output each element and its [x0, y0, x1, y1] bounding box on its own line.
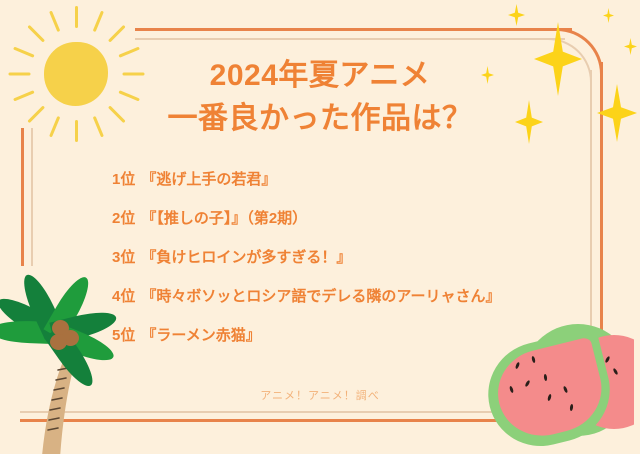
ranking-item-4: 4位 『時々ボソッとロシア語でデレる隣のアーリャさん』	[0, 285, 640, 324]
rank-position: 1位	[112, 168, 135, 189]
rank-title: 『ラーメン赤猫』	[141, 324, 260, 345]
ranking-item-2: 2位 『【推しの子】』（第2期）	[0, 207, 640, 246]
rank-title: 『負けヒロインが多すぎる！』	[141, 246, 351, 267]
poster-canvas: 2024年夏アニメ 一番良かった作品は？ 1位 『逃げ上手の若君』 2位 『【推…	[0, 0, 640, 454]
sun-ray	[49, 11, 60, 32]
rank-position: 2位	[112, 207, 135, 228]
sparkle-icon	[603, 8, 614, 23]
rank-position: 5位	[112, 324, 135, 345]
rank-title: 『【推しの子】』（第2期）	[141, 207, 307, 228]
ranking-item-3: 3位 『負けヒロインが多すぎる！』	[0, 246, 640, 285]
sun-ray	[27, 25, 45, 43]
ranking-item-5: 5位 『ラーメン赤猫』	[0, 324, 640, 363]
source-credit: アニメ！アニメ！調べ	[0, 387, 640, 403]
sun-ray	[75, 6, 78, 28]
sun-ray	[93, 11, 104, 32]
rank-title: 『時々ボソッとロシア語でデレる隣のアーリャさん』	[141, 285, 500, 306]
sparkle-icon	[624, 38, 637, 55]
rank-title: 『逃げ上手の若君』	[141, 168, 276, 189]
rank-position: 4位	[112, 285, 135, 306]
sun-ray	[108, 25, 126, 43]
rank-position: 3位	[112, 246, 135, 267]
ranking-list: 1位 『逃げ上手の若君』 2位 『【推しの子】』（第2期） 3位 『負けヒロイン…	[0, 168, 640, 363]
ranking-item-1: 1位 『逃げ上手の若君』	[0, 168, 640, 207]
frame-top-line-thin	[135, 38, 565, 40]
page-title: 2024年夏アニメ 一番良かった作品は？	[0, 55, 640, 140]
sparkle-icon	[508, 4, 525, 26]
frame-top-line-thick	[135, 28, 572, 31]
